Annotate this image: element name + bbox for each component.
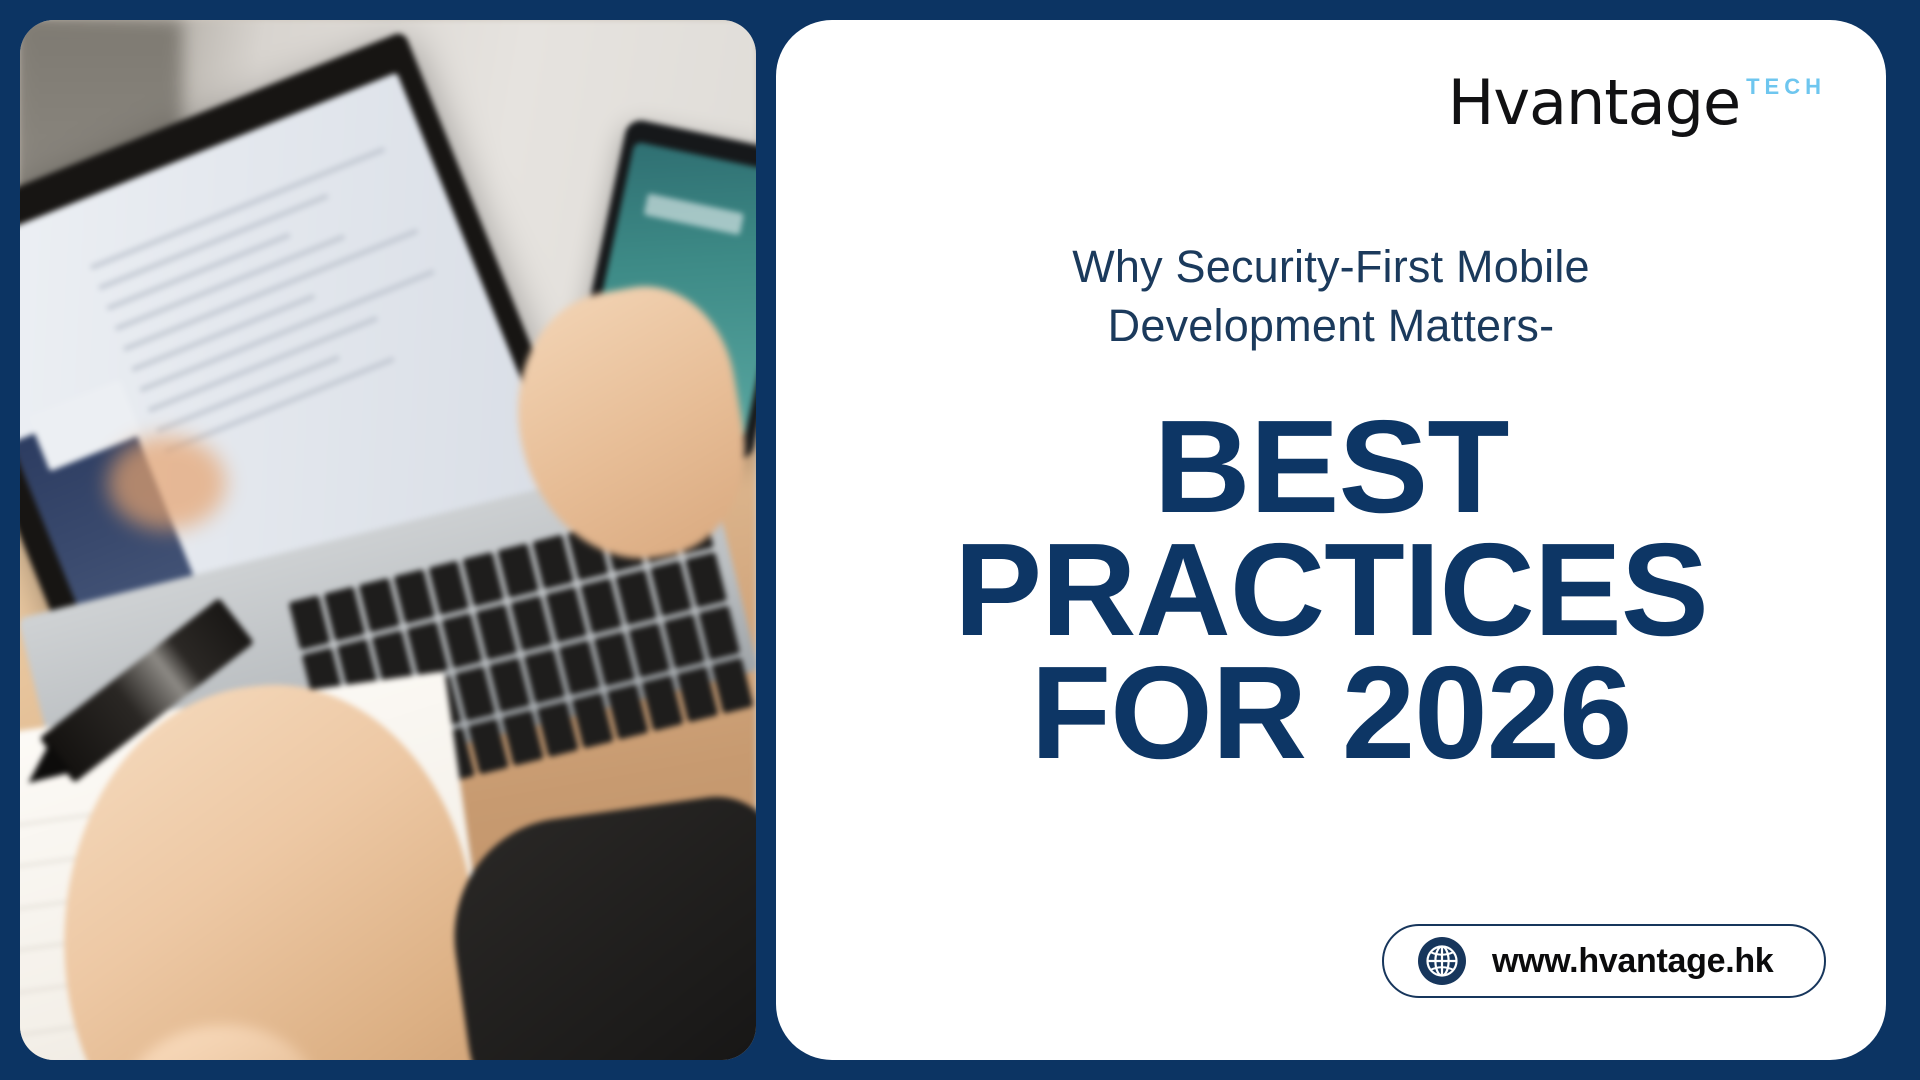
photo-hand-highlight xyxy=(114,1015,327,1060)
photo-desk-object xyxy=(108,436,226,530)
website-url-pill[interactable]: www.hvantage.hk xyxy=(1382,924,1826,998)
globe-icon xyxy=(1418,937,1466,985)
hero-photo-image xyxy=(20,20,756,1060)
article-subtitle: Why Security-First Mobile Development Ma… xyxy=(836,238,1826,355)
article-subtitle-line-2: Development Matters- xyxy=(1108,300,1555,351)
brand-logo[interactable]: Hvantage TECH xyxy=(1448,72,1826,134)
website-url-text: www.hvantage.hk xyxy=(1492,942,1773,981)
article-headline-line-3: FOR 2026 xyxy=(816,652,1846,775)
article-headline-line-2: PRACTICES xyxy=(816,529,1846,652)
brand-logo-suffix: TECH xyxy=(1746,74,1826,100)
article-headline-line-1: BEST xyxy=(806,406,1857,529)
hero-photo-panel xyxy=(20,20,756,1060)
brand-logo-wordmark: Hvantage xyxy=(1448,72,1740,134)
article-subtitle-line-1: Why Security-First Mobile xyxy=(1072,241,1590,292)
article-headline: BEST PRACTICES FOR 2026 xyxy=(816,406,1846,774)
content-card: Hvantage TECH Why Security-First Mobile … xyxy=(776,20,1886,1060)
